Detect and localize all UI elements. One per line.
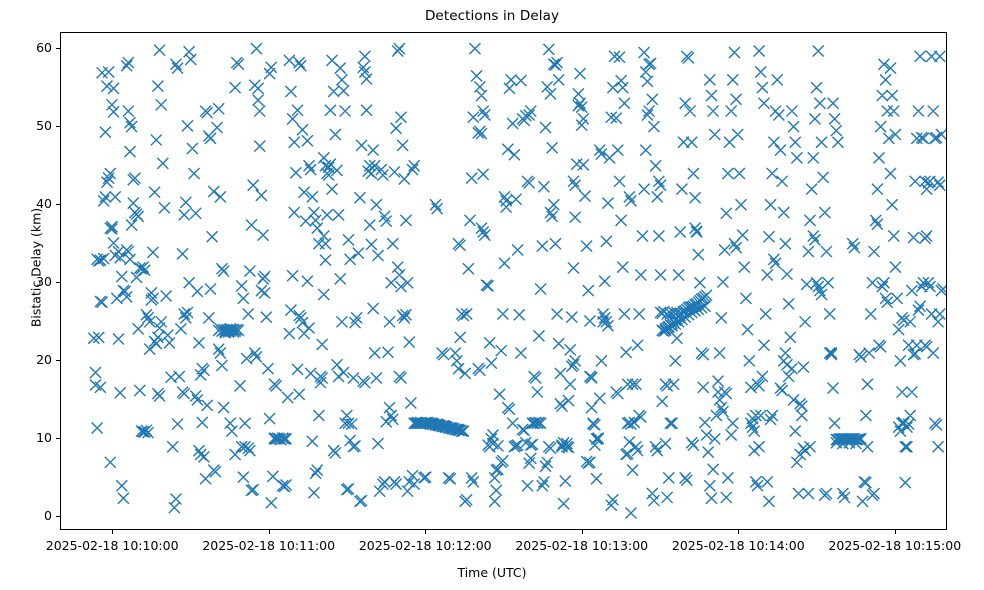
x-tick-label: 2025-02-18 10:10:00	[40, 538, 184, 553]
x-tick-mark	[895, 530, 896, 534]
y-tick-mark	[56, 438, 60, 439]
x-tick-label: 2025-02-18 10:13:00	[510, 538, 654, 553]
x-tick-mark	[269, 530, 270, 534]
scatter-canvas	[61, 33, 947, 530]
x-tick-mark	[582, 530, 583, 534]
page-title: Detections in Delay	[0, 8, 984, 24]
y-tick-mark	[56, 204, 60, 205]
x-tick-label: 2025-02-18 10:12:00	[353, 538, 497, 553]
x-tick-label: 2025-02-18 10:15:00	[823, 538, 967, 553]
x-axis-label: Time (UTC)	[0, 565, 984, 580]
x-tick-label: 2025-02-18 10:14:00	[666, 538, 810, 553]
y-tick-mark	[56, 282, 60, 283]
y-tick-mark	[56, 48, 60, 49]
x-tick-mark	[425, 530, 426, 534]
y-tick-mark	[56, 360, 60, 361]
x-tick-mark	[738, 530, 739, 534]
matplotlib-figure: Detections in Delay 0102030405060 Bistat…	[0, 0, 984, 590]
scatter-markers	[88, 43, 947, 518]
y-tick-mark	[56, 126, 60, 127]
y-axis-label: Bistatic Delay (km)	[29, 18, 44, 518]
x-tick-label: 2025-02-18 10:11:00	[197, 538, 341, 553]
x-tick-mark	[112, 530, 113, 534]
plot-area	[60, 32, 947, 530]
y-tick-mark	[56, 516, 60, 517]
